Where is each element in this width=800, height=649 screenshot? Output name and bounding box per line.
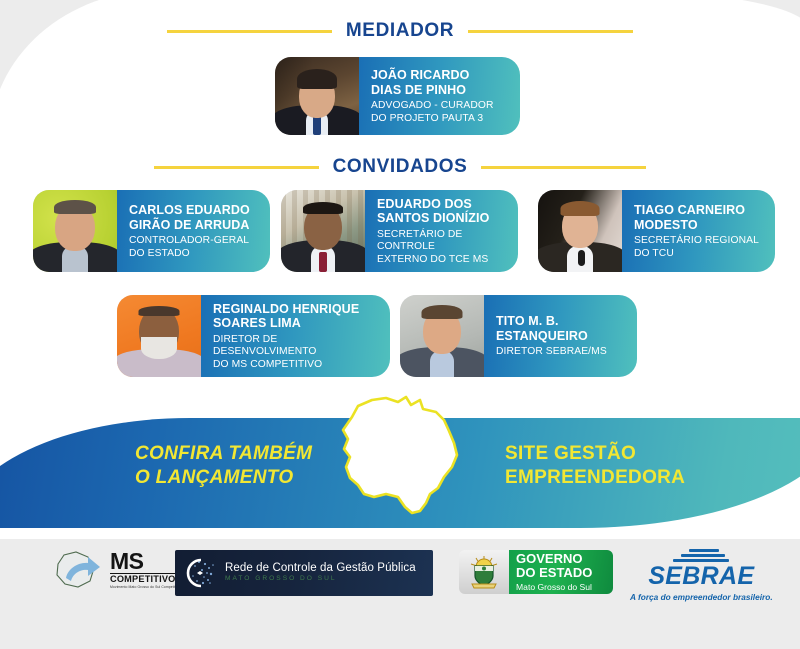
banner-right-text: SITE GESTÃO EMPREENDEDORA: [505, 442, 685, 491]
logo-ms-competitivo[interactable]: MS COMPETITIVO Movimento Mato Grosso do …: [52, 548, 180, 592]
divider-rule-right: [481, 166, 646, 169]
governo-line2: Mato Grosso do Sul: [516, 582, 613, 592]
photo-hair: [297, 69, 337, 89]
mediator-info: JOÃO RICARDO DIAS DE PINHO ADVOGADO - CU…: [359, 57, 520, 135]
guest-role: DIRETOR SEBRAE/MS: [496, 346, 627, 358]
logo-rede-de-controle[interactable]: Rede de Controle da Gestão Pública MATO …: [175, 550, 433, 596]
governo-crest: [459, 550, 509, 594]
guest-card-eduardo-dos-santos-dionizio[interactable]: EDUARDO DOS SANTOS DIONÍZIO SECRETÁRIO D…: [281, 190, 518, 272]
guest-role: DIRETOR DE DESENVOLVIMENTO DO MS COMPETI…: [213, 334, 380, 371]
guests-section-header: CONVIDADOS: [0, 156, 800, 178]
network-globe-icon: [183, 556, 217, 590]
guest-card-tito-m-b-estanqueiro[interactable]: TITO M. B. ESTANQUEIRO DIRETOR SEBRAE/MS: [400, 295, 637, 377]
poster-canvas: MEDIADOR JOÃO RICARDO DIAS DE PINHO ADVO…: [0, 0, 800, 649]
guest-role: SECRETÁRIO REGIONAL DO TCU: [634, 235, 765, 260]
guest-info: REGINALDO HENRIQUE SOARES LIMA DIRETOR D…: [201, 295, 390, 377]
mediator-photo: [275, 57, 359, 135]
guest-role: SECRETÁRIO DE CONTROLE EXTERNO DO TCE MS: [377, 229, 508, 266]
guest-name: EDUARDO DOS SANTOS DIONÍZIO: [377, 197, 508, 226]
governo-text: GOVERNO DO ESTADO Mato Grosso do Sul: [509, 550, 613, 594]
mediator-name: JOÃO RICARDO DIAS DE PINHO: [371, 68, 510, 97]
guest-info: CARLOS EDUARDO GIRÃO DE ARRUDA CONTROLAD…: [117, 190, 270, 272]
guest-info: EDUARDO DOS SANTOS DIONÍZIO SECRETÁRIO D…: [365, 190, 518, 272]
sebrae-wordmark: SEBRAE: [630, 564, 773, 589]
governo-line1: GOVERNO DO ESTADO: [516, 552, 613, 580]
guest-photo: [400, 295, 484, 377]
guest-info: TIAGO CARNEIRO MODESTO SECRETÁRIO REGION…: [622, 190, 775, 272]
guest-card-tiago-carneiro-modesto[interactable]: TIAGO CARNEIRO MODESTO SECRETÁRIO REGION…: [538, 190, 775, 272]
photo-microphone: [578, 250, 585, 266]
ms-competitivo-line3: Movimento Mato Grosso do Sul Competitivo: [110, 586, 180, 590]
guest-photo: [538, 190, 622, 272]
guest-photo: [33, 190, 117, 272]
guest-name: REGINALDO HENRIQUE SOARES LIMA: [213, 302, 380, 331]
logo-sebrae[interactable]: SEBRAE A força do empreendedor brasileir…: [630, 549, 773, 602]
photo-hair: [54, 200, 96, 214]
sebrae-tagline: A força do empreendedor brasileiro.: [630, 592, 773, 602]
photo-tie: [319, 252, 327, 272]
guest-name: TITO M. B. ESTANQUEIRO: [496, 314, 627, 343]
logo-governo-do-estado[interactable]: GOVERNO DO ESTADO Mato Grosso do Sul: [459, 550, 613, 594]
divider-rule-left: [167, 30, 332, 33]
guest-role: CONTROLADOR-GERAL DO ESTADO: [129, 235, 260, 260]
mediator-role: ADVOGADO - CURADOR DO PROJETO PAUTA 3: [371, 100, 510, 125]
photo-hair: [139, 306, 180, 316]
divider-rule-right: [468, 30, 633, 33]
guest-card-carlos-eduardo-girao-de-arruda[interactable]: CARLOS EDUARDO GIRÃO DE ARRUDA CONTROLAD…: [33, 190, 270, 272]
divider-rule-left: [154, 166, 319, 169]
mediator-heading-text: MEDIADOR: [346, 20, 454, 42]
footer-logos-bar: MS COMPETITIVO Movimento Mato Grosso do …: [0, 539, 800, 649]
sebrae-bars-icon: [673, 549, 729, 562]
guest-info: TITO M. B. ESTANQUEIRO DIRETOR SEBRAE/MS: [484, 295, 637, 377]
mediator-section-header: MEDIADOR: [0, 20, 800, 42]
photo-hair: [422, 305, 463, 319]
rede-de-controle-line1: Rede de Controle da Gestão Pública: [225, 562, 416, 575]
guest-photo: [117, 295, 201, 377]
governo-plate: GOVERNO DO ESTADO Mato Grosso do Sul: [459, 550, 613, 594]
banner-left-text: CONFIRA TAMBÉM O LANÇAMENTO: [135, 442, 312, 491]
guest-card-reginaldo-henrique-soares-lima[interactable]: REGINALDO HENRIQUE SOARES LIMA DIRETOR D…: [117, 295, 390, 377]
state-coat-of-arms-icon: [467, 554, 501, 590]
photo-shirt: [430, 351, 454, 377]
photo-hair: [561, 201, 600, 216]
guest-name: TIAGO CARNEIRO MODESTO: [634, 203, 765, 232]
mato-grosso-do-sul-map: [328, 393, 478, 515]
ms-competitivo-line2: COMPETITIVO: [110, 573, 180, 584]
ms-competitivo-line1: MS: [110, 551, 180, 573]
guest-photo: [281, 190, 365, 272]
photo-hair: [303, 202, 343, 214]
photo-beard: [141, 337, 177, 359]
rede-de-controle-line2: MATO GROSSO DO SUL: [225, 575, 416, 584]
guests-heading-text: CONVIDADOS: [333, 156, 468, 178]
guest-name: CARLOS EDUARDO GIRÃO DE ARRUDA: [129, 203, 260, 232]
ms-competitivo-mark-icon: [52, 548, 104, 592]
mediator-card[interactable]: JOÃO RICARDO DIAS DE PINHO ADVOGADO - CU…: [275, 57, 520, 135]
rede-de-controle-plate: Rede de Controle da Gestão Pública MATO …: [175, 550, 433, 596]
photo-tie: [313, 115, 321, 135]
